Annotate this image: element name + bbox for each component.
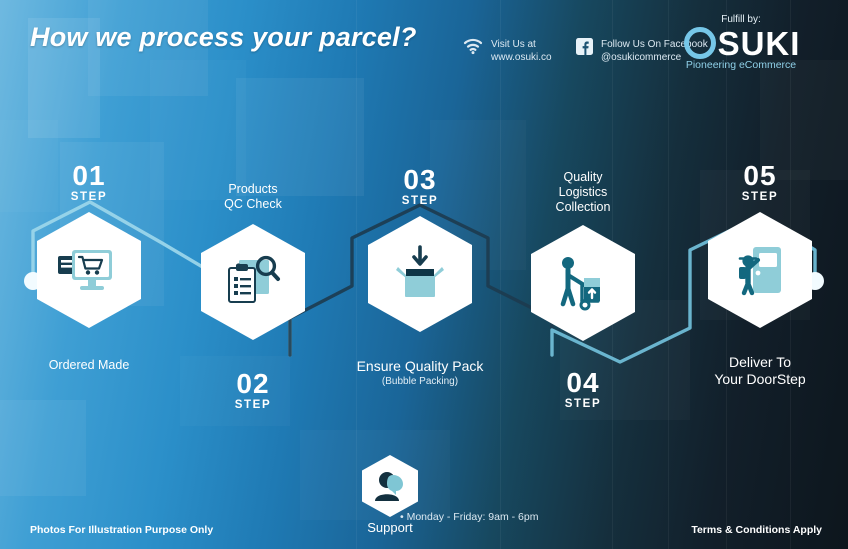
step-05-caption-line1: Deliver To (675, 354, 845, 371)
fulfill-by-label: Fulfill by: (656, 14, 826, 25)
facebook-icon (576, 38, 593, 55)
brand-wordmark: SUKI (718, 27, 801, 60)
step-01-number-block: 01 STEP (4, 162, 174, 204)
step-03-number-block: 03 STEP (335, 166, 505, 208)
support-hexagon (362, 455, 418, 517)
step-03-subcaption: (Bubble Packing) (335, 375, 505, 388)
step-04-caption-line3: Collection (498, 200, 668, 215)
support-hours: • Monday - Friday: 9am - 6pm (400, 511, 538, 523)
step-05-hexagon (708, 212, 812, 328)
step-04-number-block: 04 STEP (498, 369, 668, 411)
step-02-hexagon (201, 224, 305, 340)
doorstep-delivery-icon (708, 212, 812, 328)
step-01-step-word: STEP (4, 190, 174, 204)
support-person-icon (362, 455, 418, 517)
step-03-step-word: STEP (335, 194, 505, 208)
step-03-hexagon (368, 216, 472, 332)
step-05-caption: Deliver To Your DoorStep (675, 354, 845, 388)
contact-website-line1: Visit Us at (491, 39, 536, 50)
step-04-caption-line2: Logistics (498, 185, 668, 200)
wifi-icon (463, 38, 483, 54)
step-03[interactable]: 03 STEP Ensure Quality Pack (Bubble Pack… (335, 166, 505, 388)
osuki-o-ring-icon (682, 26, 718, 60)
support-block[interactable]: Support (330, 455, 450, 535)
step-04-caption: Quality Logistics Collection (498, 170, 668, 215)
step-02-caption: Products QC Check (168, 182, 338, 212)
step-04-caption-line1: Quality (498, 170, 668, 185)
contact-website[interactable]: Visit Us at www.osuki.co (463, 38, 552, 64)
open-box-arrow-icon (368, 216, 472, 332)
step-01-caption: Ordered Made (4, 358, 174, 373)
step-05-number-block: 05 STEP (675, 162, 845, 204)
header: How we process your parcel? Visit Us at … (0, 0, 848, 96)
brand-tagline: Pioneering eCommerce (656, 59, 826, 71)
step-04-step-word: STEP (498, 397, 668, 411)
contact-website-line2: www.osuki.co (491, 52, 552, 63)
step-02-number-block: 02 STEP (168, 370, 338, 412)
step-01-hexagon (37, 212, 141, 328)
step-03-caption: Ensure Quality Pack (Bubble Packing) (335, 358, 505, 388)
step-05[interactable]: 05 STEP Deliver To (675, 162, 845, 388)
hand-truck-worker-icon (531, 225, 635, 341)
step-04-number: 04 (498, 369, 668, 397)
step-01-number: 01 (4, 162, 174, 190)
clipboard-search-icon (201, 224, 305, 340)
step-05-caption-line2: Your DoorStep (675, 371, 845, 388)
monitor-cart-icon (37, 212, 141, 328)
step-02[interactable]: Products QC Check (168, 182, 338, 412)
page-title: How we process your parcel? (30, 22, 417, 53)
step-01[interactable]: 01 STEP Ordered Made (4, 162, 174, 373)
infographic-poster: How we process your parcel? Visit Us at … (0, 0, 848, 549)
brand-logo: SUKI (656, 26, 826, 60)
step-05-step-word: STEP (675, 190, 845, 204)
step-04-hexagon (531, 225, 635, 341)
step-02-number: 02 (168, 370, 338, 398)
brand-logo-block: Fulfill by: SUKI Pioneering eCommerce (656, 14, 826, 71)
photos-disclaimer: Photos For Illustration Purpose Only (30, 524, 213, 536)
step-03-caption-text: Ensure Quality Pack (335, 358, 505, 375)
step-03-number: 03 (335, 166, 505, 194)
step-02-step-word: STEP (168, 398, 338, 412)
step-04[interactable]: Quality Logistics Collection (498, 170, 668, 411)
terms-conditions-note[interactable]: Terms & Conditions Apply (691, 524, 822, 536)
step-02-caption-line2: QC Check (168, 197, 338, 212)
contact-website-text: Visit Us at www.osuki.co (491, 38, 552, 64)
step-02-caption-line1: Products (168, 182, 338, 197)
step-05-number: 05 (675, 162, 845, 190)
